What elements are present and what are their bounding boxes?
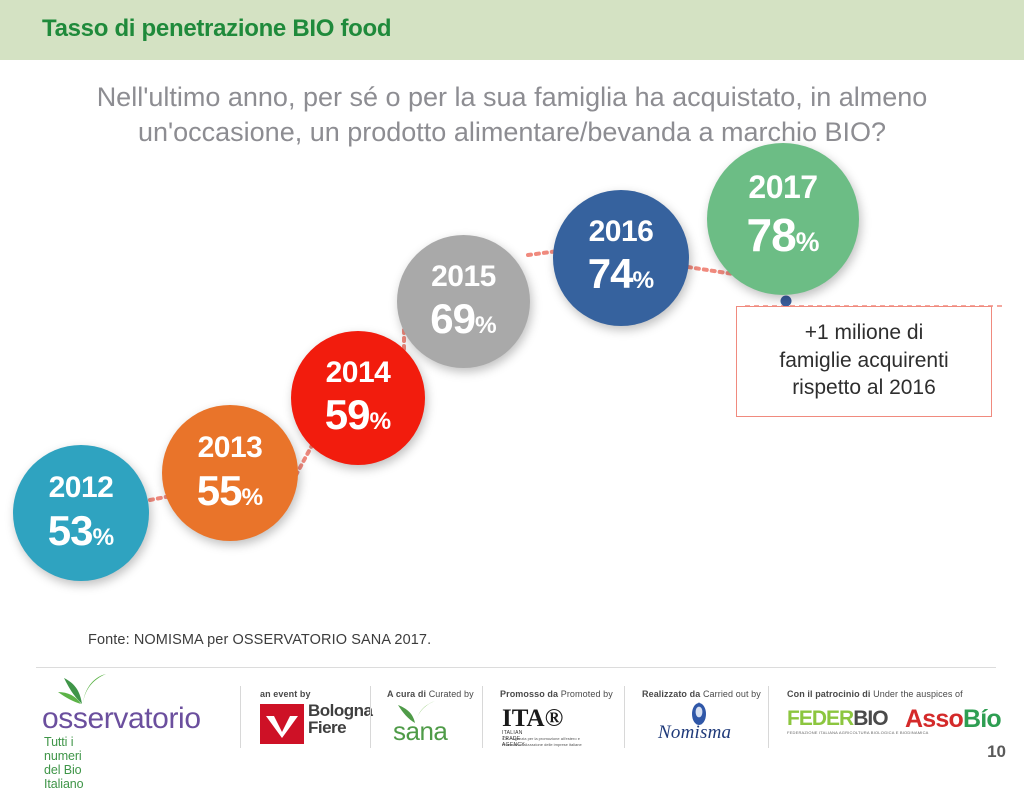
bubble-2015-year: 2015 [397, 260, 530, 294]
sana-caption-bold: A cura di [387, 689, 426, 699]
callout-line-1: +1 milione di [745, 319, 983, 347]
assobio-part-b: Bío [963, 705, 1001, 733]
bubble-2014-value: 59% [291, 391, 425, 439]
bubble-2016[interactable]: 2016 74% [553, 190, 689, 326]
footer-logos: osservatorio Tutti i numeri del Bio Ital… [0, 672, 1024, 766]
callout-box: +1 milione di famiglie acquirenti rispet… [736, 306, 992, 417]
sana-wordmark: sana [393, 716, 447, 747]
bubble-2013-value: 55% [162, 467, 298, 515]
question-subtitle: Nell'ultimo anno, per sé o per la sua fa… [62, 80, 962, 149]
ita-caption-bold: Promosso da [500, 689, 558, 699]
bubble-2013[interactable]: 2013 55% [162, 405, 298, 541]
bolognafiere-caption-bold: an event by [260, 689, 311, 699]
bubble-2015[interactable]: 2015 69% [397, 235, 530, 368]
nomisma-caption-bold: Realizzato da [642, 689, 700, 699]
bubble-2016-value: 74% [553, 250, 689, 298]
ita-caption: Promosso da Promoted by [500, 689, 613, 699]
federbio-part-a: FEDER [787, 707, 853, 730]
ita-caption-rest: Promoted by [561, 689, 613, 699]
ita-wordmark: ITA® [502, 705, 563, 733]
bubble-2017-year: 2017 [707, 169, 859, 206]
bolognafiere-line-1: Bologna [308, 702, 373, 719]
nomisma-wordmark: Nomisma [658, 722, 731, 744]
patronage-caption-rest: Under the auspices of [873, 689, 963, 699]
bubble-2012[interactable]: 2012 53% [13, 445, 149, 581]
bubble-2012-value: 53% [13, 507, 149, 555]
bubble-2015-value: 69% [397, 295, 530, 343]
bolognafiere-wordmark: Bologna Fiere [308, 702, 373, 736]
patronage-caption-bold: Con il patrocinio di [787, 689, 871, 699]
osservatorio-wordmark: osservatorio [42, 702, 201, 736]
bubble-2014-year: 2014 [291, 356, 425, 390]
federbio-wordmark: FEDERBIO [787, 707, 888, 731]
footer-separator [482, 686, 483, 748]
footer-divider [36, 667, 996, 668]
footer-separator [624, 686, 625, 748]
callout-line-2: famiglie acquirenti [745, 347, 983, 375]
source-note: Fonte: NOMISMA per OSSERVATORIO SANA 201… [88, 632, 431, 648]
footer-separator [370, 686, 371, 748]
bubble-2013-year: 2013 [162, 431, 298, 465]
patronage-caption: Con il patrocinio di Under the auspices … [787, 689, 963, 699]
bolognafiere-mark-icon [260, 704, 304, 744]
assobio-part-a: Asso [905, 705, 963, 733]
leaf-icon [52, 670, 112, 706]
bubble-2016-year: 2016 [553, 215, 689, 249]
ita-subtitle-2: ICE - Agenzia per la promozione all'este… [502, 736, 607, 748]
callout-text: +1 milione di famiglie acquirenti rispet… [745, 319, 983, 402]
federbio-part-b: BIO [853, 707, 887, 730]
bubble-2012-year: 2012 [13, 471, 149, 505]
footer-separator [768, 686, 769, 748]
bolognafiere-caption: an event by [260, 689, 311, 699]
page-number: 10 [987, 742, 1006, 762]
assobio-wordmark: AssoBío [905, 705, 1001, 734]
callout-line-3: rispetto al 2016 [745, 374, 983, 402]
nomisma-caption-rest: Carried out by [703, 689, 761, 699]
bubble-2017[interactable]: 2017 78% [707, 143, 859, 295]
bubble-2014[interactable]: 2014 59% [291, 331, 425, 465]
nomisma-caption: Realizzato da Carried out by [642, 689, 761, 699]
page-title: Tasso di penetrazione BIO food [42, 15, 391, 43]
sana-caption: A cura di Curated by [387, 689, 474, 699]
bubble-2017-value: 78% [707, 208, 859, 262]
osservatorio-tagline: Tutti i numeri del Bio Italiano [44, 735, 84, 791]
sana-caption-rest: Curated by [429, 689, 474, 699]
footer-separator [240, 686, 241, 748]
bolognafiere-line-2: Fiere [308, 719, 373, 736]
